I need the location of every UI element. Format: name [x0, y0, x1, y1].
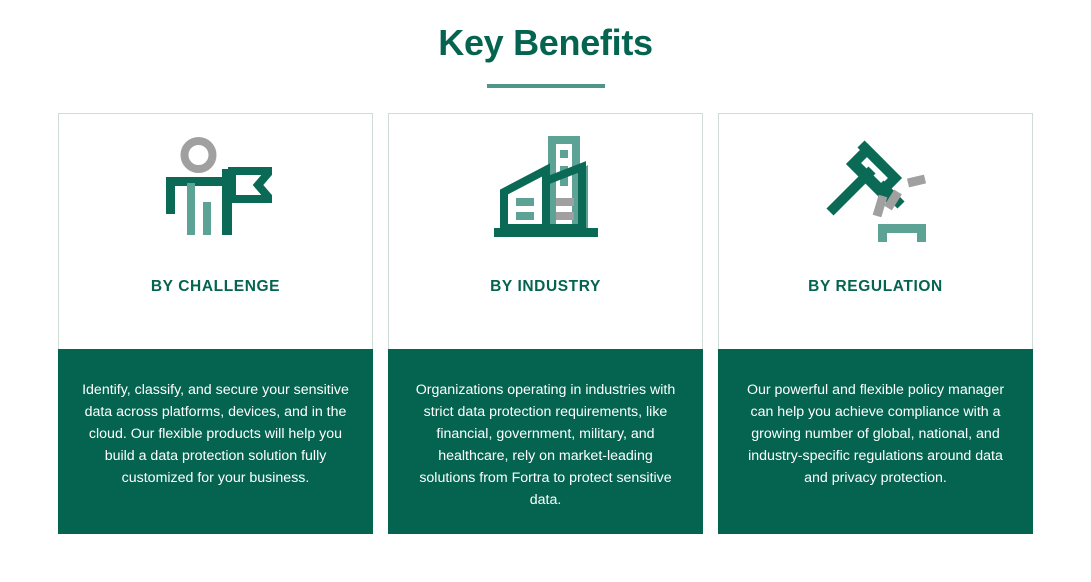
key-benefits-section: Key Benefits [0, 0, 1091, 582]
card-body-text: Our powerful and flexible policy manager… [742, 379, 1009, 489]
card-label-by-industry: BY INDUSTRY [490, 278, 601, 296]
gavel-icon [820, 136, 932, 253]
card-body-text: Organizations operating in industries wi… [412, 379, 679, 511]
benefit-card-row: BY CHALLENGE Identify, classify, and sec… [58, 113, 1033, 534]
icon-wrap-by-industry [389, 114, 702, 274]
person-with-flag-icon [160, 136, 272, 253]
page-title: Key Benefits [0, 20, 1091, 66]
card-body-by-regulation: Our powerful and flexible policy manager… [718, 349, 1033, 534]
card-top-by-challenge: BY CHALLENGE [58, 113, 373, 349]
card-label-by-regulation: BY REGULATION [808, 278, 943, 296]
card-body-by-industry: Organizations operating in industries wi… [388, 349, 703, 534]
card-label-by-challenge: BY CHALLENGE [151, 278, 280, 296]
card-top-by-regulation: BY REGULATION [718, 113, 1033, 349]
card-body-by-challenge: Identify, classify, and secure your sens… [58, 349, 373, 534]
card-top-by-industry: BY INDUSTRY [388, 113, 703, 349]
benefit-card-by-industry[interactable]: BY INDUSTRY Organizations operating in i… [388, 113, 703, 534]
benefit-card-by-challenge[interactable]: BY CHALLENGE Identify, classify, and sec… [58, 113, 373, 534]
title-underline-rule [487, 84, 605, 88]
icon-wrap-by-regulation [719, 114, 1032, 274]
heading-block: Key Benefits [0, 20, 1091, 88]
office-buildings-icon [490, 136, 602, 253]
icon-wrap-by-challenge [59, 114, 372, 274]
benefit-card-by-regulation[interactable]: BY REGULATION Our powerful and flexible … [718, 113, 1033, 534]
card-body-text: Identify, classify, and secure your sens… [82, 379, 349, 489]
